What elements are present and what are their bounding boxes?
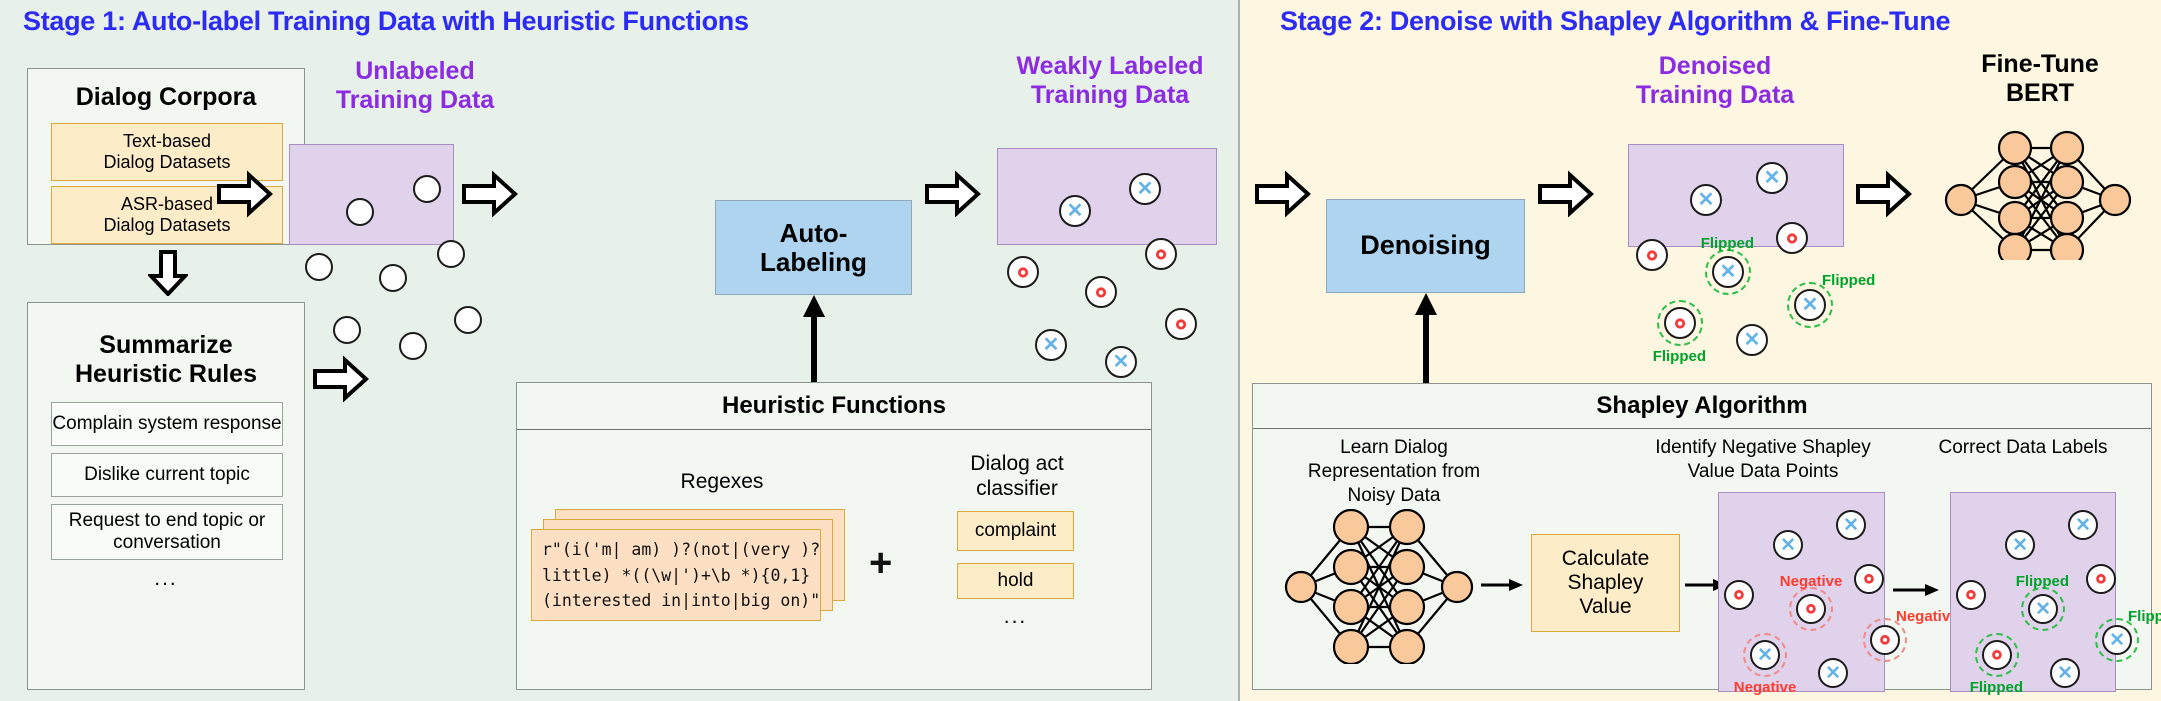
shapley-step3-label: Correct Data Labels xyxy=(1903,436,2143,460)
label-o-icon: ○ xyxy=(1009,258,1037,286)
rule-chip-1: Complain system response xyxy=(51,402,283,446)
data-point: ○ xyxy=(2086,564,2116,594)
summarize-rules-title-text: SummarizeHeuristic Rules xyxy=(75,331,257,388)
dialog-corpora-title: Dialog Corpora xyxy=(28,83,304,112)
shapley-step1-text: Learn DialogRepresentation fromNoisy Dat… xyxy=(1308,437,1480,506)
rule-label: Request to end topic orconversation xyxy=(69,510,265,554)
fine-tune-bert-title: Fine-TuneBERT xyxy=(1925,50,2155,108)
heuristic-functions-title: Heuristic Functions xyxy=(517,392,1151,420)
label-x-icon: ✕ xyxy=(1107,348,1135,376)
calculate-shapley-label: CalculateShapleyValue xyxy=(1562,547,1650,619)
data-point: ○ xyxy=(1636,239,1668,271)
arrow-denoising-to-denoised xyxy=(1538,170,1594,218)
shapley-step3-text: Correct Data Labels xyxy=(1939,437,2108,458)
denoised-points-layer: ✕✕○✕Flipped○○Flipped✕✕Flipped xyxy=(1628,144,1844,247)
data-point: ○ xyxy=(1085,276,1117,308)
data-point: ○ xyxy=(1776,222,1808,254)
label-x-icon: ✕ xyxy=(2030,596,2056,622)
label-o-icon: ○ xyxy=(1778,224,1806,252)
flipped-tag: Flipped xyxy=(1970,679,2023,696)
regexes-label: Regexes xyxy=(577,469,867,494)
rule-label: Complain system response xyxy=(52,413,281,435)
label-x-icon: ✕ xyxy=(1714,258,1742,286)
label-o-icon: ○ xyxy=(1167,310,1195,338)
rules-ellipsis: ... xyxy=(28,567,304,591)
unlabeled-points-layer xyxy=(289,144,454,245)
label-o-icon: ○ xyxy=(1147,240,1175,268)
denoised-data-title: DenoisedTraining Data xyxy=(1585,52,1845,110)
shapley-step1-label: Learn DialogRepresentation fromNoisy Dat… xyxy=(1269,436,1519,507)
shapley-step2-label: Identify Negative ShapleyValue Data Poin… xyxy=(1598,436,1928,484)
fine-tune-bert-title-text: Fine-TuneBERT xyxy=(1981,50,2099,107)
unlabeled-data-title: UnlabeledTraining Data xyxy=(290,57,540,115)
data-point: ✕ xyxy=(1105,346,1137,378)
data-point: ○ xyxy=(1145,238,1177,270)
shapley-algorithm-title: Shapley Algorithm xyxy=(1253,392,2151,420)
flipped-tag: Flipped xyxy=(1822,272,1875,289)
class-chip-complaint: complaint xyxy=(957,511,1074,551)
label-x-icon: ✕ xyxy=(1796,291,1824,319)
weakly-points-layer: ✕✕○○○✕✕○ xyxy=(997,148,1217,245)
data-point xyxy=(413,175,441,203)
data-point: ✕ xyxy=(1690,184,1722,216)
rule-chip-3: Request to end topic orconversation xyxy=(51,504,283,560)
flipped-tag: Flipped xyxy=(2128,608,2161,625)
label-o-icon: ○ xyxy=(1666,309,1694,337)
rule-label: Dislike current topic xyxy=(84,464,250,486)
unlabeled-data-title-text: UnlabeledTraining Data xyxy=(336,57,494,114)
data-point: ○ xyxy=(1982,640,2012,670)
negative-tag: Negative xyxy=(1780,573,1843,590)
data-point xyxy=(305,253,333,281)
data-point xyxy=(454,306,482,334)
data-point: ✕ xyxy=(1129,173,1161,205)
label-x-icon: ✕ xyxy=(1820,660,1846,686)
auto-labeling-box[interactable]: Auto-Labeling xyxy=(715,200,912,295)
data-point: ✕ xyxy=(1035,329,1067,361)
label-x-icon: ✕ xyxy=(2052,660,2078,686)
data-point: ✕ xyxy=(2102,625,2132,655)
arrow-shapley-to-denoising xyxy=(1414,291,1438,387)
classifier-label-text: Dialog actclassifier xyxy=(970,452,1063,500)
label-x-icon: ✕ xyxy=(1692,186,1720,214)
weakly-labeled-title: Weakly LabeledTraining Data xyxy=(990,52,1230,110)
arrow-corpora-to-rules xyxy=(148,250,188,296)
calculate-shapley-value-box: CalculateShapleyValue xyxy=(1531,534,1680,632)
data-point: ✕ xyxy=(1818,658,1848,688)
data-point xyxy=(379,264,407,292)
label-o-icon: ○ xyxy=(1726,582,1752,608)
arrow-denoised-to-bert xyxy=(1856,170,1912,218)
label-o-icon: ○ xyxy=(1856,566,1882,592)
data-point: ○ xyxy=(1956,580,1986,610)
label-o-icon: ○ xyxy=(1087,278,1115,306)
data-point: ○ xyxy=(1854,564,1884,594)
label-x-icon: ✕ xyxy=(1752,642,1778,668)
label-o-icon: ○ xyxy=(1872,627,1898,653)
heuristic-functions-header-divider xyxy=(517,429,1151,430)
bert-network-diagram xyxy=(1937,130,2137,260)
flipped-tag: Flipped xyxy=(2016,573,2069,590)
summarize-rules-panel: SummarizeHeuristic Rules Complain system… xyxy=(27,302,305,690)
auto-labeling-label: Auto-Labeling xyxy=(760,219,867,276)
flipped-tag: Flipped xyxy=(1653,348,1706,365)
label-x-icon: ✕ xyxy=(2070,512,2096,538)
stage2-title: Stage 2: Denoise with Shapley Algorithm … xyxy=(1280,6,1950,37)
data-point: ○ xyxy=(1724,580,1754,610)
denoising-box[interactable]: Denoising xyxy=(1326,199,1525,293)
data-point: ✕ xyxy=(1736,324,1768,356)
label-x-icon: ✕ xyxy=(2104,627,2130,653)
corpus-chip-label: ASR-basedDialog Datasets xyxy=(103,194,230,235)
label-o-icon: ○ xyxy=(1638,241,1666,269)
data-point xyxy=(333,316,361,344)
data-point: ○ xyxy=(1796,594,1826,624)
data-point: ✕ xyxy=(1756,162,1788,194)
class-chip-label: complaint xyxy=(975,520,1056,542)
label-x-icon: ✕ xyxy=(1061,197,1089,225)
class-chip-label: hold xyxy=(998,570,1034,592)
arrow-heuristics-to-autolabel xyxy=(802,293,826,391)
data-point: ✕ xyxy=(2028,594,2058,624)
data-point: ✕ xyxy=(2068,510,2098,540)
data-point xyxy=(399,332,427,360)
dialog-representation-network xyxy=(1283,509,1478,664)
diagram-root: Stage 1: Auto-label Training Data with H… xyxy=(0,0,2161,701)
data-point: ✕ xyxy=(1750,640,1780,670)
data-point: ✕ xyxy=(1794,289,1826,321)
arrow-network-to-calculate xyxy=(1481,574,1525,596)
denoising-label: Denoising xyxy=(1360,231,1491,261)
label-o-icon: ○ xyxy=(1958,582,1984,608)
label-x-icon: ✕ xyxy=(1037,331,1065,359)
correct-points-layer: ✕✕○✕Flipped○○Flipped✕✕Flipped xyxy=(1950,492,2116,692)
label-o-icon: ○ xyxy=(1984,642,2010,668)
rule-chip-2: Dislike current topic xyxy=(51,453,283,497)
label-x-icon: ✕ xyxy=(1758,164,1786,192)
arrow-autolabel-input xyxy=(462,170,518,218)
data-point: ✕ xyxy=(1712,256,1744,288)
summarize-rules-title: SummarizeHeuristic Rules xyxy=(28,331,304,389)
dialog-act-classifier-label: Dialog actclassifier xyxy=(917,451,1117,501)
data-point: ✕ xyxy=(1059,195,1091,227)
negative-tag: Negative xyxy=(1734,679,1797,696)
data-point: ○ xyxy=(1664,307,1696,339)
stage1-title: Stage 1: Auto-label Training Data with H… xyxy=(23,6,749,37)
dialog-corpora-panel: Dialog Corpora Text-basedDialog Datasets… xyxy=(27,68,305,245)
arrow-weak-to-denoising xyxy=(1255,170,1311,218)
label-x-icon: ✕ xyxy=(1738,326,1766,354)
label-x-icon: ✕ xyxy=(1838,512,1864,538)
identify-points-layer: ✕✕○○Negative○✕Negative✕○Negative xyxy=(1718,492,1885,692)
label-x-icon: ✕ xyxy=(1775,532,1801,558)
data-point: ✕ xyxy=(2050,658,2080,688)
label-o-icon: ○ xyxy=(2088,566,2114,592)
class-chip-hold: hold xyxy=(957,563,1074,599)
plus-sign: + xyxy=(869,543,892,583)
arrow-autolabel-to-weak xyxy=(925,170,981,218)
regex-code-text: r"(i('m| am) )?(not|(very )?little) *((\… xyxy=(542,537,820,614)
flipped-tag: Flipped xyxy=(1701,235,1754,252)
shapley-panel-header-divider xyxy=(1253,428,2151,429)
stage-divider xyxy=(1238,0,1240,701)
data-point: ✕ xyxy=(2005,530,2035,560)
label-x-icon: ✕ xyxy=(2007,532,2033,558)
arrow-unlabeled-to-autolabel xyxy=(217,170,273,218)
data-point: ○ xyxy=(1165,308,1197,340)
label-o-icon: ○ xyxy=(1798,596,1824,622)
shapley-step2-text: Identify Negative ShapleyValue Data Poin… xyxy=(1655,437,1870,482)
arrow-identify-to-correct xyxy=(1893,579,1941,601)
data-point: ✕ xyxy=(1836,510,1866,540)
data-point xyxy=(437,240,465,268)
data-point: ✕ xyxy=(1773,530,1803,560)
data-point xyxy=(346,198,374,226)
shapley-algorithm-panel: Shapley Algorithm Learn DialogRepresenta… xyxy=(1252,383,2152,690)
arrow-rules-to-heuristics xyxy=(313,355,369,403)
heuristic-functions-panel: Heuristic Functions Regexes r"(i('m| am)… xyxy=(516,382,1152,690)
label-x-icon: ✕ xyxy=(1131,175,1159,203)
classes-ellipsis: ... xyxy=(957,605,1074,629)
data-point: ○ xyxy=(1870,625,1900,655)
data-point: ○ xyxy=(1007,256,1039,288)
corpus-chip-label: Text-basedDialog Datasets xyxy=(103,131,230,172)
weakly-labeled-title-text: Weakly LabeledTraining Data xyxy=(1016,52,1203,109)
denoised-data-title-text: DenoisedTraining Data xyxy=(1636,52,1794,109)
